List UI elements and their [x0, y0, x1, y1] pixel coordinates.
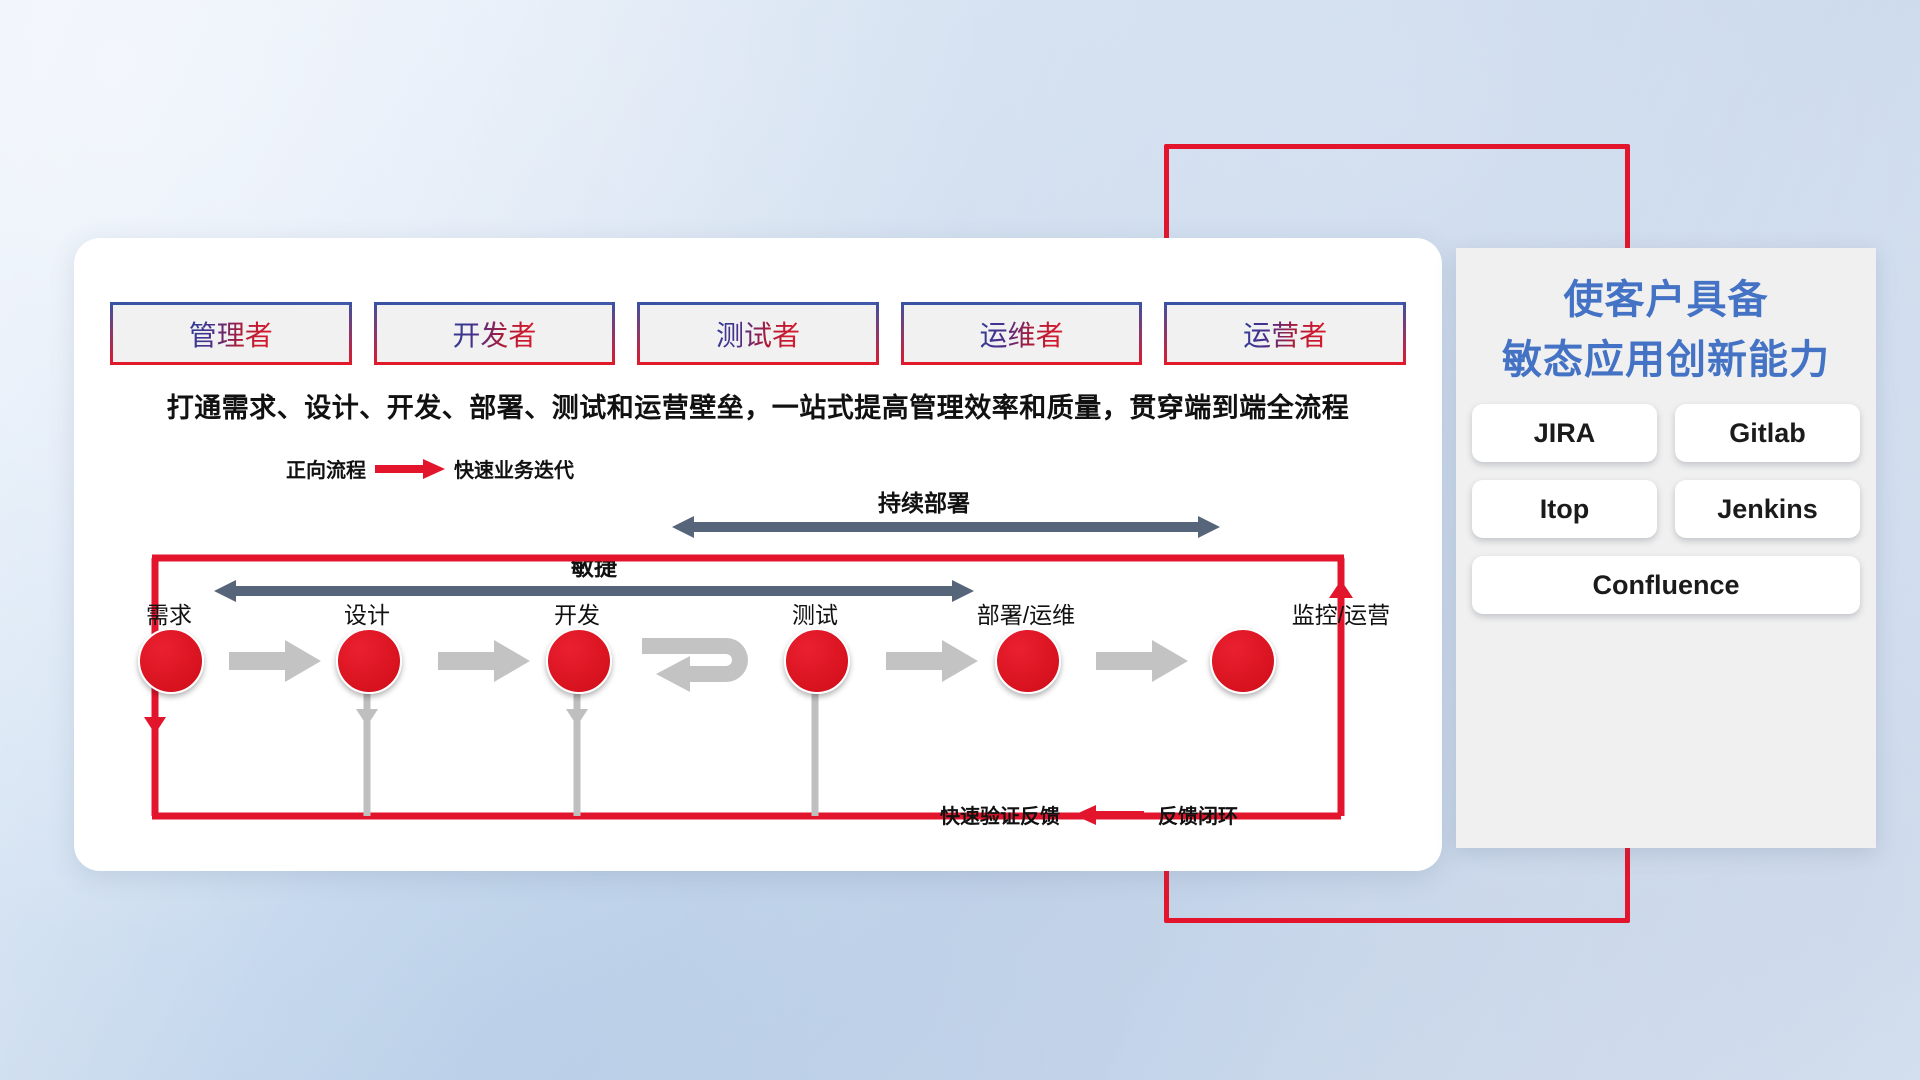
- role-box-operator[interactable]: 运营者: [1164, 302, 1406, 365]
- stage-label-monitor-operate: 监控/运营: [1251, 596, 1431, 630]
- tool-chip-row-2: Itop Jenkins: [1472, 480, 1860, 538]
- role-border-bottom: [901, 362, 1143, 365]
- span-label-agile: 敏捷: [504, 548, 684, 582]
- role-border-top: [637, 302, 879, 305]
- panel-headline: 使客户具备 敏态应用创新能力: [1456, 248, 1876, 390]
- role-border-right: [1403, 302, 1406, 365]
- tool-chip-jenkins[interactable]: Jenkins: [1675, 480, 1860, 538]
- stage-node-develop[interactable]: [546, 628, 612, 694]
- gray-uturn-loop-arrow: [634, 630, 764, 694]
- tool-chip-gitlab[interactable]: Gitlab: [1675, 404, 1860, 462]
- role-border-bottom: [637, 362, 879, 365]
- role-box-ops[interactable]: 运维者: [901, 302, 1143, 365]
- panel-headline-line2: 敏态应用创新能力: [1456, 330, 1876, 390]
- role-border-bottom: [374, 362, 616, 365]
- red-right-arrow-icon: [375, 459, 445, 479]
- tool-chip-confluence[interactable]: Confluence: [1472, 556, 1860, 614]
- stage-node-design[interactable]: [336, 628, 402, 694]
- legend-forward-left-label: 正向流程: [286, 454, 366, 483]
- role-border-right: [612, 302, 615, 365]
- role-border-right: [349, 302, 352, 365]
- double-arrow-continuous-deploy: [672, 516, 1220, 538]
- red-left-arrow-icon: [1074, 805, 1144, 825]
- role-label: 运营者: [1243, 314, 1327, 354]
- role-border-bottom: [110, 362, 352, 365]
- role-border-right: [876, 302, 879, 365]
- stage-node-test[interactable]: [784, 628, 850, 694]
- stage-label-design: 设计: [317, 596, 417, 630]
- tool-chip-row-1: JIRA Gitlab: [1472, 404, 1860, 462]
- gray-arrow-2: [438, 640, 530, 682]
- role-box-developer[interactable]: 开发者: [374, 302, 616, 365]
- devops-overview-card: 管理者 开发者 测试者 运维者 运营者: [74, 238, 1442, 871]
- role-border-top: [374, 302, 616, 305]
- role-label: 测试者: [716, 314, 800, 354]
- role-border-left: [110, 302, 113, 365]
- legend-forward-right-label: 快速业务迭代: [454, 454, 574, 483]
- role-border-bottom: [1164, 362, 1406, 365]
- role-border-top: [110, 302, 352, 305]
- gray-arrow-1: [229, 640, 321, 682]
- legend-forward-flow: 正向流程 快速业务迭代: [286, 454, 574, 483]
- tool-chip-jira[interactable]: JIRA: [1472, 404, 1657, 462]
- stage-label-test: 测试: [765, 596, 865, 630]
- gray-arrow-3: [886, 640, 978, 682]
- tool-chip-itop[interactable]: Itop: [1472, 480, 1657, 538]
- stage-node-monitor-operate[interactable]: [1210, 628, 1276, 694]
- role-border-left: [1164, 302, 1167, 365]
- legend-feedback-left-label: 快速验证反馈: [940, 800, 1060, 829]
- stage-label-deploy-ops: 部署/运维: [936, 596, 1116, 630]
- role-box-row: 管理者 开发者 测试者 运维者 运营者: [110, 302, 1406, 365]
- stage-label-develop: 开发: [527, 596, 627, 630]
- role-border-top: [1164, 302, 1406, 305]
- legend-feedback-loop: 快速验证反馈 反馈闭环: [940, 800, 1238, 829]
- value-proposition-panel: 使客户具备 敏态应用创新能力 JIRA Gitlab Itop Jenkins …: [1456, 248, 1876, 848]
- tool-chip-row-3: Confluence: [1472, 556, 1860, 614]
- role-box-manager[interactable]: 管理者: [110, 302, 352, 365]
- stage-label-requirement: 需求: [119, 596, 219, 630]
- stage-node-requirement[interactable]: [138, 628, 204, 694]
- role-label: 运维者: [980, 314, 1064, 354]
- stage-node-deploy-ops[interactable]: [995, 628, 1061, 694]
- panel-headline-line1: 使客户具备: [1456, 270, 1876, 330]
- description-text: 打通需求、设计、开发、部署、测试和运营壁垒，一站式提高管理效率和质量，贯穿端到端…: [74, 386, 1442, 425]
- role-border-left: [374, 302, 377, 365]
- tool-chip-grid: JIRA Gitlab Itop Jenkins Confluence: [1456, 390, 1876, 614]
- role-border-right: [1139, 302, 1142, 365]
- role-border-top: [901, 302, 1143, 305]
- gray-arrow-4: [1096, 640, 1188, 682]
- role-border-left: [637, 302, 640, 365]
- role-label: 开发者: [452, 314, 536, 354]
- role-border-left: [901, 302, 904, 365]
- span-label-continuous-deploy: 持续部署: [794, 484, 1054, 518]
- legend-feedback-right-label: 反馈闭环: [1158, 800, 1238, 829]
- role-box-tester[interactable]: 测试者: [637, 302, 879, 365]
- role-label: 管理者: [189, 314, 273, 354]
